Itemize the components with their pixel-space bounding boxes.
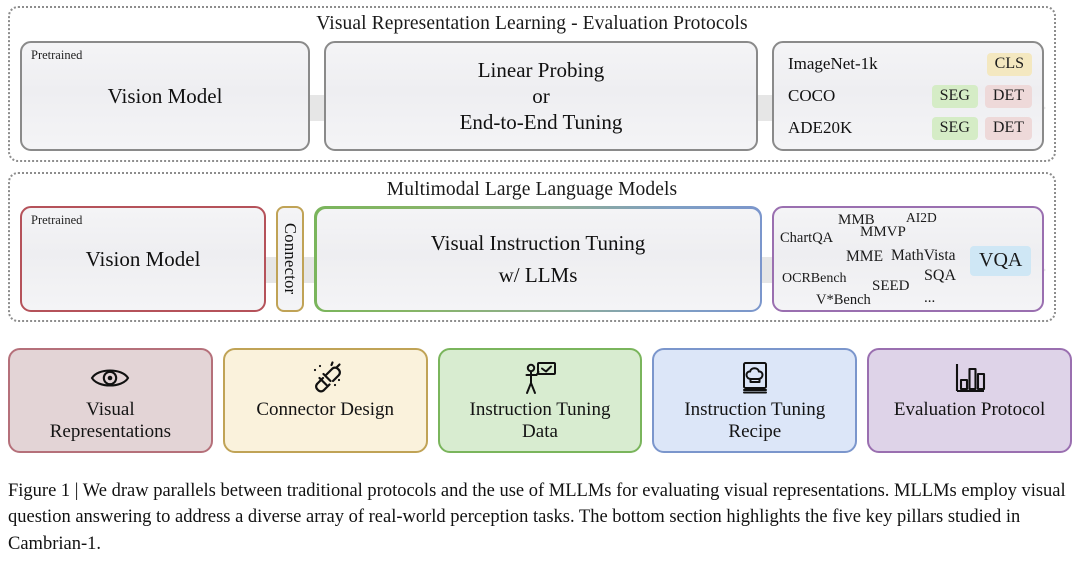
pretrained-label: Pretrained <box>31 48 82 63</box>
protocols-method-card[interactable]: Linear Probing or End-to-End Tuning <box>324 41 758 151</box>
pillars-row: Visual Representations <box>8 348 1072 453</box>
pillar-label-line-2: Representations <box>50 421 171 443</box>
pillar-instruction-tuning-data[interactable]: Instruction Tuning Data <box>438 348 643 453</box>
teacher-icon <box>523 359 557 397</box>
section-mllm-title: Multimodal Large Language Models <box>10 174 1054 201</box>
eye-icon <box>90 359 130 397</box>
figure-canvas: Visual Representation Learning - Evaluat… <box>0 0 1080 571</box>
vision-model-label: Vision Model <box>22 83 308 109</box>
table-row[interactable]: COCO SEG DET <box>788 81 1032 111</box>
vision-model-label: Vision Model <box>22 246 264 272</box>
cookbook-icon <box>739 359 771 397</box>
pillar-label: Instruction Tuning Recipe <box>678 399 831 443</box>
benchmark-name: ADE20K <box>788 118 852 138</box>
pillar-label-line-1: Instruction Tuning <box>470 399 611 421</box>
bar-chart-icon <box>953 359 987 397</box>
benchmark-chip[interactable]: ChartQA <box>780 230 833 247</box>
protocols-benchmarks-card[interactable]: ImageNet-1k CLS COCO SEG DET ADE20K <box>772 41 1044 151</box>
benchmark-name: ImageNet-1k <box>788 54 878 74</box>
pillar-label: Evaluation Protocol <box>888 399 1051 421</box>
benchmark-chip[interactable]: MathVista <box>891 247 956 265</box>
plug-icon <box>306 359 344 397</box>
pillar-label-line-2: Data <box>470 421 611 443</box>
benchmark-list: ImageNet-1k CLS COCO SEG DET ADE20K <box>774 43 1042 149</box>
benchmark-tags: CLS <box>987 53 1032 76</box>
pillar-label: Visual Representations <box>44 399 177 443</box>
status-badge-seg: SEG <box>932 85 978 108</box>
benchmark-chip: ... <box>924 290 935 307</box>
mllm-vision-model-card[interactable]: Pretrained Vision Model <box>20 206 266 312</box>
section-protocols-title: Visual Representation Learning - Evaluat… <box>10 8 1054 35</box>
status-badge-det: DET <box>985 85 1032 108</box>
section-mllm: Multimodal Large Language Models Pretrai… <box>8 172 1056 322</box>
benchmark-chip[interactable]: SEED <box>872 278 910 295</box>
tuning-line-2: w/ LLMs <box>317 262 760 288</box>
figure-caption: Figure 1 | We draw parallels between tra… <box>8 478 1072 557</box>
method-line-2: or <box>326 83 756 109</box>
pillar-label: Connector Design <box>250 399 400 421</box>
benchmark-chip[interactable]: V*Bench <box>816 292 871 309</box>
method-line-1: Linear Probing <box>326 57 756 83</box>
pillar-label: Instruction Tuning Data <box>464 399 617 443</box>
protocols-row: Pretrained Vision Model Linear Probing o… <box>20 41 1044 151</box>
benchmark-name: COCO <box>788 86 835 106</box>
tuning-line-1: Visual Instruction Tuning <box>317 230 760 256</box>
pillar-evaluation-protocol[interactable]: Evaluation Protocol <box>867 348 1072 453</box>
status-badge-cls: CLS <box>987 53 1032 76</box>
mllm-benchmarks-card[interactable]: MMB AI2D ChartQA MMVP MME MathVista OCRB… <box>772 206 1044 312</box>
pillar-label-line-1: Evaluation Protocol <box>894 399 1045 421</box>
pillar-label-line-1: Visual <box>50 399 171 421</box>
benchmark-chip[interactable]: MME <box>846 248 883 266</box>
pillar-connector-design[interactable]: Connector Design <box>223 348 428 453</box>
pillar-label-line-1: Connector Design <box>256 399 394 421</box>
status-badge-det: DET <box>985 117 1032 140</box>
benchmark-tags: SEG DET <box>932 117 1032 140</box>
mllm-tuning-inner: Visual Instruction Tuning w/ LLMs <box>317 209 760 310</box>
connector-card[interactable]: Connector <box>276 206 304 312</box>
status-badge-vqa: VQA <box>970 246 1031 276</box>
pretrained-label: Pretrained <box>31 213 82 228</box>
connector-label: Connector <box>280 223 300 294</box>
method-line-3: End-to-End Tuning <box>326 109 756 135</box>
section-evaluation-protocols: Visual Representation Learning - Evaluat… <box>8 6 1056 162</box>
benchmark-chip[interactable]: SQA <box>924 267 956 285</box>
benchmark-chip[interactable]: OCRBench <box>782 271 847 287</box>
pillar-instruction-tuning-recipe[interactable]: Instruction Tuning Recipe <box>652 348 857 453</box>
table-row[interactable]: ADE20K SEG DET <box>788 113 1032 143</box>
mllm-row: Pretrained Vision Model Connector Visual… <box>20 206 1044 312</box>
benchmark-chip[interactable]: AI2D <box>906 210 937 226</box>
benchmark-word-cloud: MMB AI2D ChartQA MMVP MME MathVista OCRB… <box>774 208 1042 310</box>
pillar-label-line-2: Recipe <box>684 421 825 443</box>
benchmark-tags: SEG DET <box>932 85 1032 108</box>
pillar-visual-representations[interactable]: Visual Representations <box>8 348 213 453</box>
protocols-vision-model-card[interactable]: Pretrained Vision Model <box>20 41 310 151</box>
status-badge-seg: SEG <box>932 117 978 140</box>
benchmark-chip[interactable]: MMVP <box>860 224 906 241</box>
pillar-label-line-1: Instruction Tuning <box>684 399 825 421</box>
mllm-tuning-card[interactable]: Visual Instruction Tuning w/ LLMs <box>314 206 762 312</box>
table-row[interactable]: ImageNet-1k CLS <box>788 49 1032 79</box>
